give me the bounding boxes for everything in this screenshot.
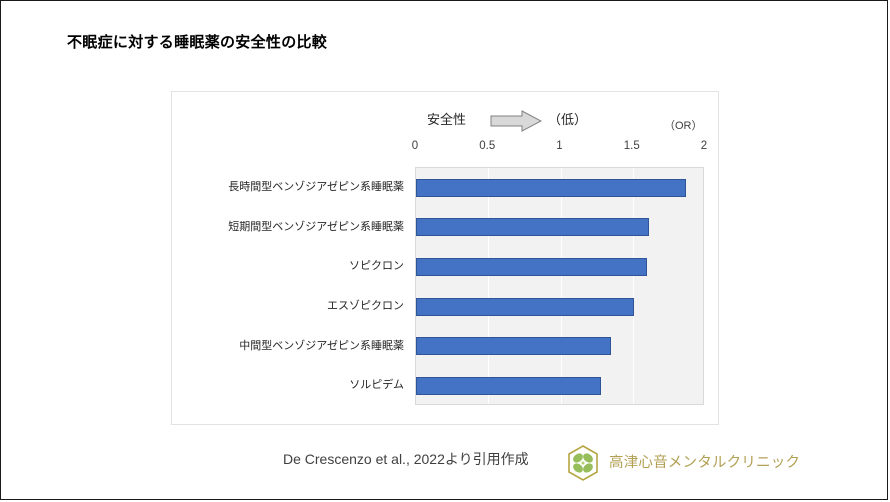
chart-bar-row: [416, 208, 703, 248]
x-tick-label: 0.5: [479, 140, 495, 152]
chart-bar[interactable]: [416, 218, 649, 236]
hexagon-clover-logo-icon: [564, 444, 602, 482]
y-category-label: ソルピデム: [349, 378, 404, 392]
y-category-label: ソピクロン: [349, 259, 404, 273]
chart-bar-row: [416, 366, 703, 405]
y-category-label: エスゾピクロン: [327, 299, 404, 313]
clinic-name-label: 高津心音メンタルクリニック: [609, 451, 800, 472]
y-category-label: 短期間型ベンゾジアゼピン系睡眠薬: [228, 220, 404, 234]
source-citation-text: De Crescenzo et al., 2022より引用作成: [283, 449, 529, 469]
chart-container: 安全性 （低） （OR） 00.511.52 長時間型ベンゾジアゼピン系睡眠薬短…: [171, 91, 719, 425]
y-category-label: 中間型ベンゾジアゼピン系睡眠薬: [239, 339, 404, 353]
x-tick-label: 1.5: [624, 140, 640, 152]
x-tick-label: 1: [556, 140, 562, 152]
chart-bar-row: [416, 287, 703, 327]
chart-bar[interactable]: [416, 377, 601, 395]
chart-bar-row: [416, 327, 703, 367]
page-title: 不眠症に対する睡眠薬の安全性の比較: [67, 31, 327, 52]
x-axis-tick-labels: 00.511.52: [172, 140, 720, 156]
chart-bar[interactable]: [416, 258, 647, 276]
y-category-label: 長時間型ベンゾジアゼピン系睡眠薬: [228, 180, 404, 194]
y-axis-category-labels: 長時間型ベンゾジアゼピン系睡眠薬短期間型ベンゾジアゼピン系睡眠薬ソピクロンエスゾ…: [172, 167, 410, 405]
safety-axis-annotation-label: 安全性: [427, 109, 466, 128]
chart-bar-row: [416, 168, 703, 208]
odds-ratio-unit-label: （OR）: [664, 117, 703, 133]
safety-low-annotation-label: （低）: [548, 109, 587, 128]
slide-footer: De Crescenzo et al., 2022より引用作成 高津心音メンタル…: [1, 444, 889, 484]
chart-bar-row: [416, 247, 703, 287]
x-tick-label: 0: [412, 140, 418, 152]
chart-bar[interactable]: [416, 337, 611, 355]
chart-bar[interactable]: [416, 298, 634, 316]
slide-canvas: 不眠症に対する睡眠薬の安全性の比較 安全性 （低） （OR） 00.511.52…: [0, 0, 888, 500]
x-tick-label: 2: [701, 140, 707, 152]
chart-bar[interactable]: [416, 179, 686, 197]
right-block-arrow-icon: [490, 110, 542, 132]
chart-plot-area: [415, 167, 704, 405]
